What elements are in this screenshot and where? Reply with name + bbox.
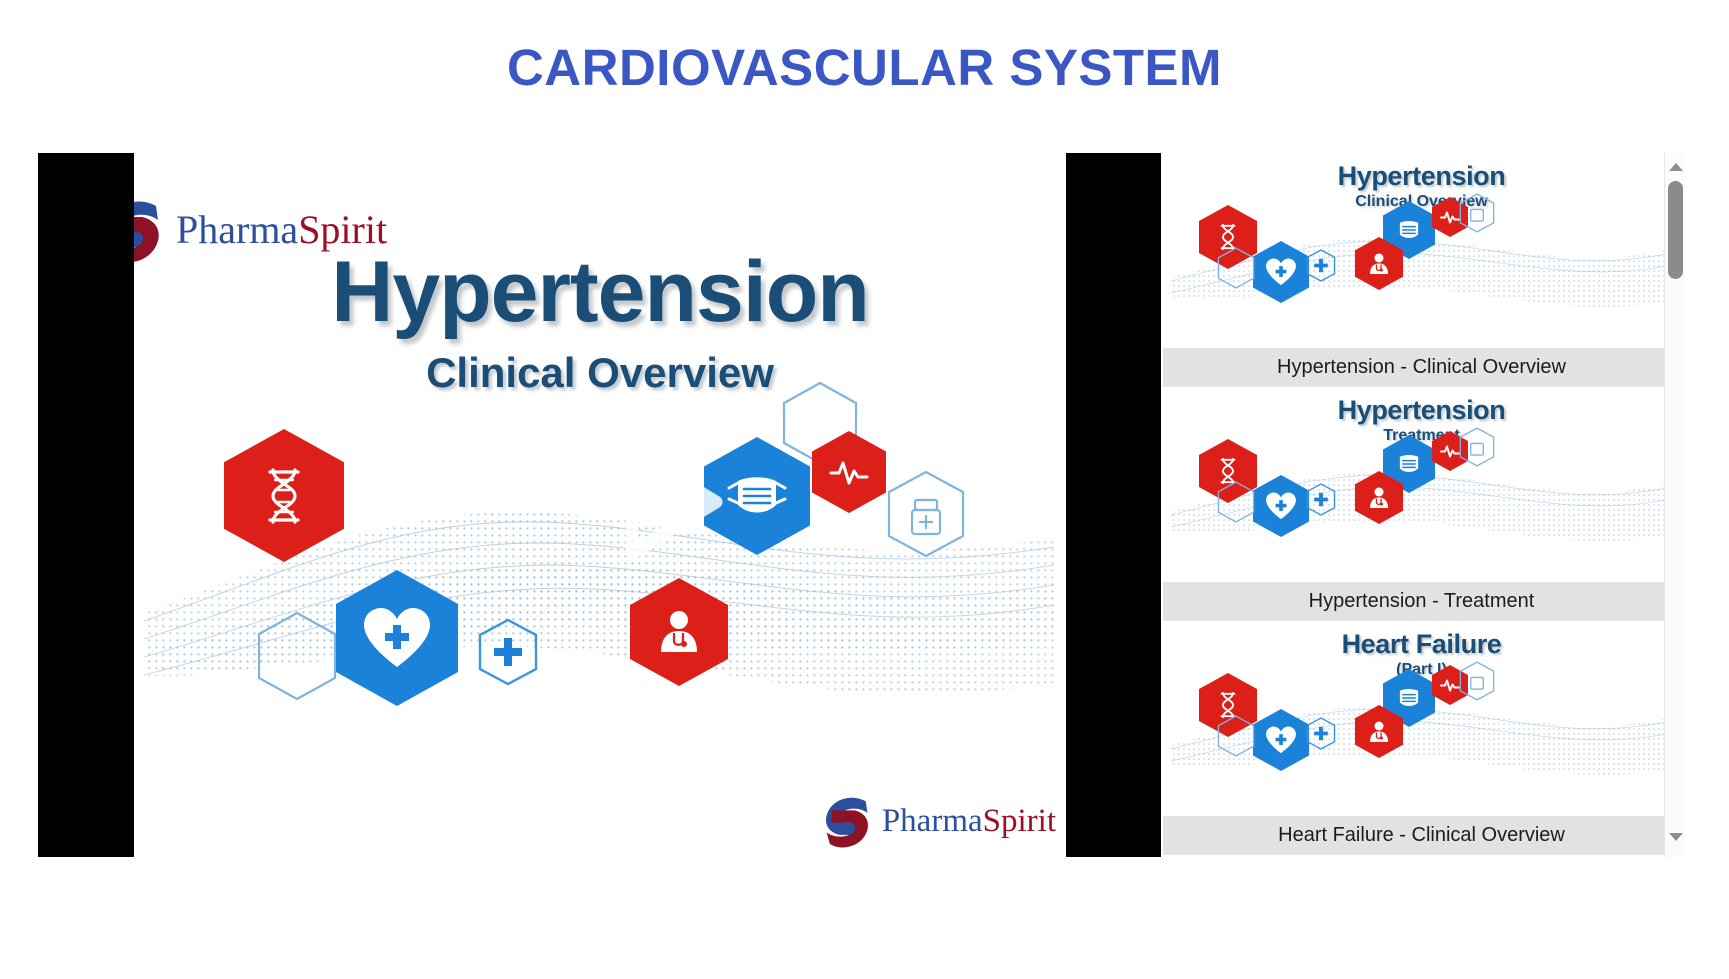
- playlist-item[interactable]: Hypertension Clinical Overview: [1163, 153, 1680, 387]
- playlist-sidebar: Hypertension Clinical Overview: [1163, 153, 1729, 857]
- doctor-hexagon-red-icon: [630, 578, 728, 686]
- thumbnail-caption: Heart Failure - Clinical Overview: [1163, 816, 1680, 854]
- thumbnail-caption: Hypertension - Treatment: [1163, 582, 1680, 620]
- small-plus-hexagon-blue-icon: [1306, 249, 1336, 282]
- playlist-item[interactable]: Hypertension Treatment: [1163, 387, 1680, 621]
- chevron-down-icon: [1669, 833, 1683, 841]
- scroll-down-button[interactable]: [1665, 827, 1686, 847]
- thumbnail-heading: Hypertension: [1163, 161, 1680, 192]
- dna-hexagon-red-icon: [224, 429, 344, 562]
- pill-bottle-hexagon-outline-icon: [1459, 427, 1495, 467]
- slide-subtitle: Clinical Overview: [134, 349, 1066, 397]
- video-player[interactable]: PharmaSpirit Hypertension Clinical Overv…: [38, 153, 1161, 857]
- thumbnail-preview: Hypertension Clinical Overview: [1163, 153, 1680, 348]
- brand-word-spirit-small: Spirit: [983, 803, 1056, 839]
- play-button[interactable]: [612, 441, 730, 563]
- scrollbar-thumb[interactable]: [1668, 181, 1683, 279]
- scroll-up-button[interactable]: [1665, 157, 1686, 177]
- thumbnail-preview: Heart Failure (Part I): [1163, 621, 1680, 816]
- brand-word-pharma-small: Pharma: [882, 803, 983, 839]
- pharmaspirit-logo-icon-small: [816, 790, 878, 852]
- empty-hexagon-outline-left-icon: [1217, 247, 1255, 289]
- playlist-scrollbar[interactable]: [1664, 153, 1685, 857]
- small-plus-hexagon-blue-icon: [1306, 483, 1336, 516]
- slide-heading: Hypertension: [134, 243, 1066, 342]
- chevron-up-icon: [1669, 163, 1683, 171]
- pill-bottle-hexagon-outline-icon: [1459, 661, 1495, 701]
- page-root: CARDIOVASCULAR SYSTEM PharmaSpirit Hyper…: [0, 0, 1729, 979]
- empty-hexagon-outline-left-icon: [256, 611, 338, 701]
- slide-canvas: PharmaSpirit Hypertension Clinical Overv…: [134, 153, 1066, 857]
- playlist-items: Hypertension Clinical Overview: [1163, 153, 1680, 855]
- small-plus-hexagon-blue-icon: [477, 618, 539, 686]
- thumbnail-preview: Hypertension Treatment: [1163, 387, 1680, 582]
- heart-plus-hexagon-blue-icon: [336, 570, 458, 706]
- playlist-item[interactable]: Heart Failure (Part I): [1163, 621, 1680, 855]
- pill-bottle-hexagon-outline-icon: [886, 470, 966, 558]
- empty-hexagon-outline-left-icon: [1217, 481, 1255, 523]
- empty-hexagon-outline-left-icon: [1217, 715, 1255, 757]
- thumbnail-heading: Heart Failure: [1163, 629, 1680, 660]
- small-plus-hexagon-blue-icon: [1306, 717, 1336, 750]
- pill-bottle-hexagon-outline-icon: [1459, 193, 1495, 233]
- thumbnail-caption: Hypertension - Clinical Overview: [1163, 348, 1680, 386]
- thumbnail-heading: Hypertension: [1163, 395, 1680, 426]
- page-title: CARDIOVASCULAR SYSTEM: [0, 38, 1729, 97]
- brand-wordmark-small: PharmaSpirit: [882, 805, 1056, 838]
- slide-logo-bottom-right: PharmaSpirit: [816, 791, 1056, 851]
